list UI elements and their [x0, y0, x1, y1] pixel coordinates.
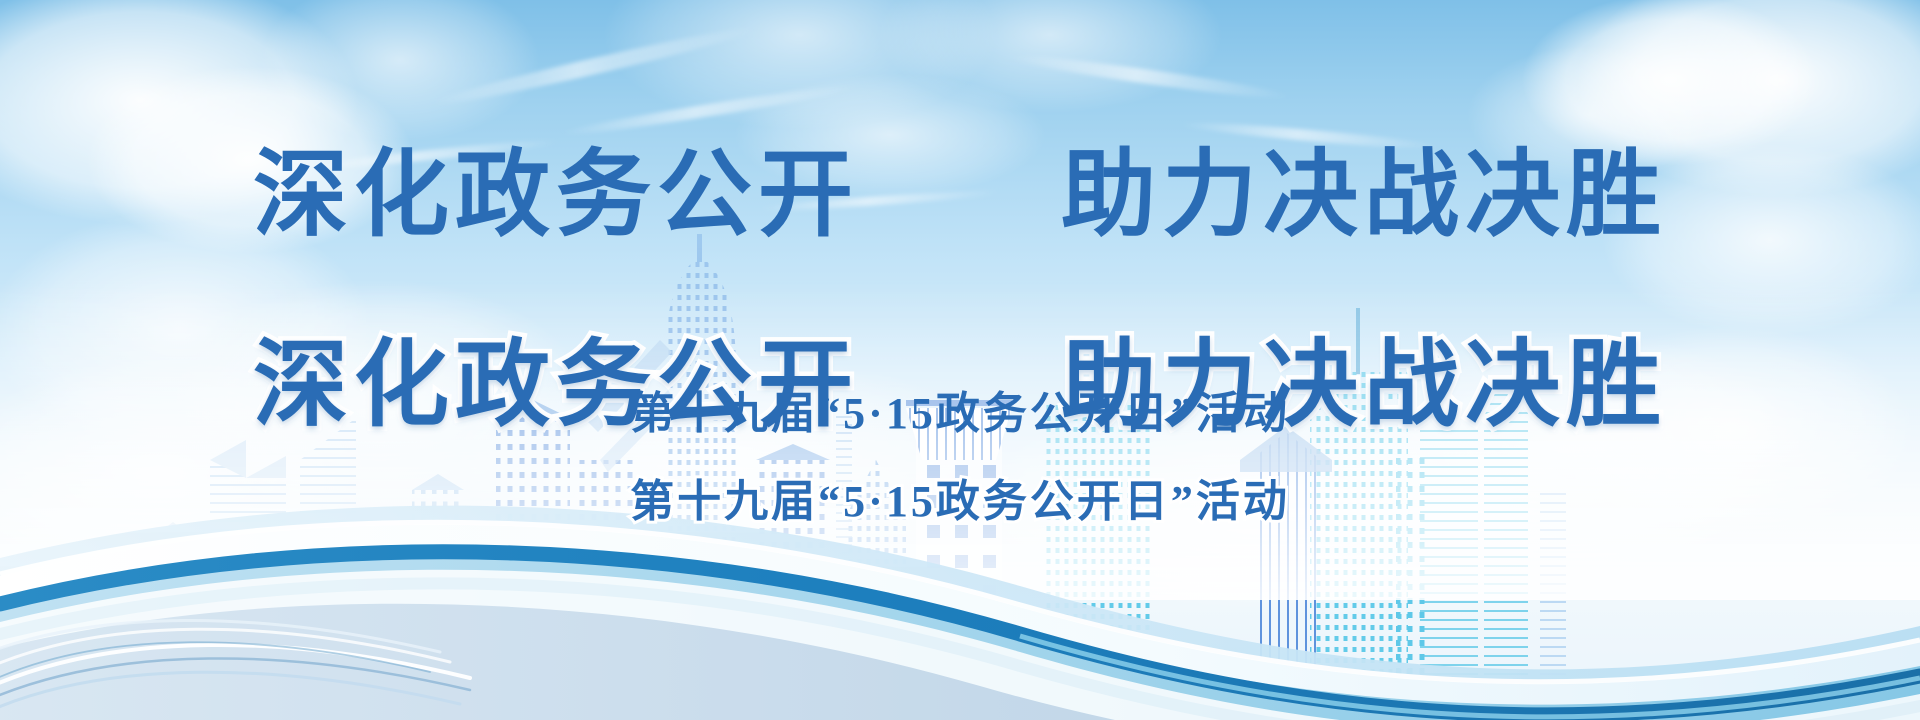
cloud-shape [230, 0, 570, 160]
cloud-streak [561, 81, 859, 140]
cloud-streak [432, 21, 757, 111]
banner-root: 深化政务公开 助力决战决胜 深化政务公开 助力决战决胜 第十九届“5·15政务公… [0, 0, 1920, 720]
cloud-shape [840, 0, 1260, 130]
cloud-streak [1010, 51, 1289, 104]
cloud-shape [560, 0, 1040, 150]
page-subtitle: 第十九届“5·15政务公开日”活动 第十九届“5·15政务公开日”活动 [0, 392, 1920, 656]
page-subtitle-fill: 第十九届“5·15政务公开日”活动 [0, 392, 1920, 436]
page-subtitle-text: 第十九届“5·15政务公开日”活动 [0, 480, 1920, 524]
page-title-fill: 深化政务公开 助力决战决胜 [0, 148, 1920, 243]
